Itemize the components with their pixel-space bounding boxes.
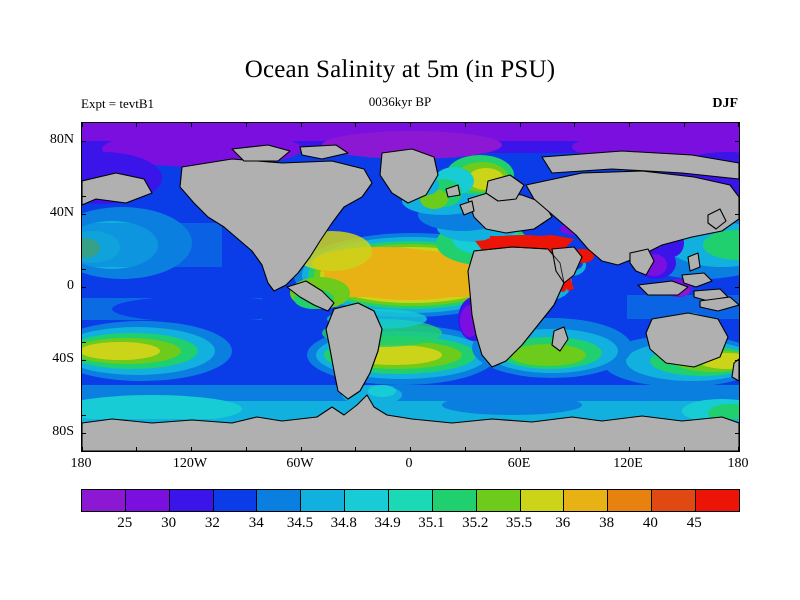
colorbar <box>81 489 740 512</box>
y-tick-minor <box>81 415 86 416</box>
x-tick-top <box>738 122 739 127</box>
salinity-map <box>82 123 739 451</box>
colorbar-band-14 <box>696 490 739 511</box>
colorbar-tick-38: 38 <box>599 515 614 532</box>
x-tick-top <box>410 122 411 127</box>
x-tick-minor <box>355 447 356 452</box>
figure-canvas: Ocean Salinity at 5m (in PSU) 0036kyr BP… <box>0 0 800 600</box>
y-tick-right <box>735 214 740 215</box>
colorbar-band-11 <box>564 490 608 511</box>
colorbar-tick-35.2: 35.2 <box>462 515 488 532</box>
colorbar-tick-36: 36 <box>555 515 570 532</box>
x-axis-label-120w: 120W <box>173 456 207 472</box>
x-axis-label-180e: 180 <box>728 456 749 472</box>
colorbar-band-5 <box>301 490 345 511</box>
x-tick-minor <box>465 447 466 452</box>
map-plot-area <box>81 122 740 452</box>
figure-title: Ocean Salinity at 5m (in PSU) <box>0 56 800 84</box>
y-tick-major <box>81 433 86 434</box>
x-tick-top <box>684 122 685 127</box>
colorbar-tick-30: 30 <box>161 515 176 532</box>
y-tick-minor <box>81 196 86 197</box>
colorbar-band-10 <box>521 490 565 511</box>
colorbar-tick-34.8: 34.8 <box>331 515 357 532</box>
colorbar-band-12 <box>608 490 652 511</box>
y-tick-minor <box>81 342 86 343</box>
colorbar-band-2 <box>170 490 214 511</box>
colorbar-band-6 <box>345 490 389 511</box>
x-tick-top <box>629 122 630 127</box>
x-tick-major <box>301 447 302 452</box>
y-tick-major <box>81 141 86 142</box>
x-tick-top <box>82 122 83 127</box>
colorbar-band-1 <box>126 490 170 511</box>
y-tick-right <box>735 141 740 142</box>
y-tick-major <box>81 214 86 215</box>
colorbar-tick-35.1: 35.1 <box>418 515 444 532</box>
y-axis-label-40n: 40N <box>28 205 74 221</box>
x-tick-major <box>82 447 83 452</box>
x-tick-top <box>301 122 302 127</box>
season-label: DJF <box>712 96 738 112</box>
y-tick-right <box>735 360 740 361</box>
y-tick-major <box>81 360 86 361</box>
colorbar-band-7 <box>389 490 433 511</box>
x-tick-top <box>465 122 466 127</box>
x-tick-top <box>355 122 356 127</box>
colorbar-tick-45: 45 <box>687 515 702 532</box>
colorbar-tick-34: 34 <box>249 515 264 532</box>
colorbar-band-4 <box>257 490 301 511</box>
colorbar-tick-34.5: 34.5 <box>287 515 313 532</box>
x-axis-label-60e: 60E <box>508 456 531 472</box>
y-tick-minor <box>81 269 86 270</box>
x-tick-minor <box>574 447 575 452</box>
colorbar-band-13 <box>652 490 696 511</box>
x-tick-major <box>520 447 521 452</box>
x-axis-label-60w: 60W <box>286 456 313 472</box>
colorbar-tick-35.5: 35.5 <box>506 515 532 532</box>
x-axis-label-180w: 180 <box>71 456 92 472</box>
colorbar-tick-25: 25 <box>117 515 132 532</box>
y-axis-label-0: 0 <box>28 278 74 294</box>
x-tick-minor <box>136 447 137 452</box>
x-tick-minor <box>684 447 685 452</box>
colorbar-tick-34.9: 34.9 <box>374 515 400 532</box>
x-tick-top <box>136 122 137 127</box>
x-tick-top <box>191 122 192 127</box>
y-tick-right <box>735 287 740 288</box>
y-tick-major <box>81 287 86 288</box>
colorbar-band-3 <box>214 490 258 511</box>
x-axis-label-120e: 120E <box>613 456 643 472</box>
x-axis-label-0: 0 <box>406 456 413 472</box>
x-tick-top <box>520 122 521 127</box>
y-axis-label-40s: 40S <box>28 351 74 367</box>
x-tick-major <box>191 447 192 452</box>
x-tick-minor <box>246 447 247 452</box>
y-tick-right <box>735 433 740 434</box>
y-axis-label-80n: 80N <box>28 132 74 148</box>
x-tick-major <box>629 447 630 452</box>
x-tick-major <box>410 447 411 452</box>
colorbar-tick-32: 32 <box>205 515 220 532</box>
x-tick-top <box>574 122 575 127</box>
experiment-label: Expt = tevtB1 <box>81 96 154 112</box>
x-tick-top <box>246 122 247 127</box>
y-axis-label-80s: 80S <box>28 424 74 440</box>
x-tick-major <box>738 447 739 452</box>
colorbar-band-0 <box>82 490 126 511</box>
colorbar-band-8 <box>433 490 477 511</box>
colorbar-tick-40: 40 <box>643 515 658 532</box>
colorbar-band-9 <box>477 490 521 511</box>
